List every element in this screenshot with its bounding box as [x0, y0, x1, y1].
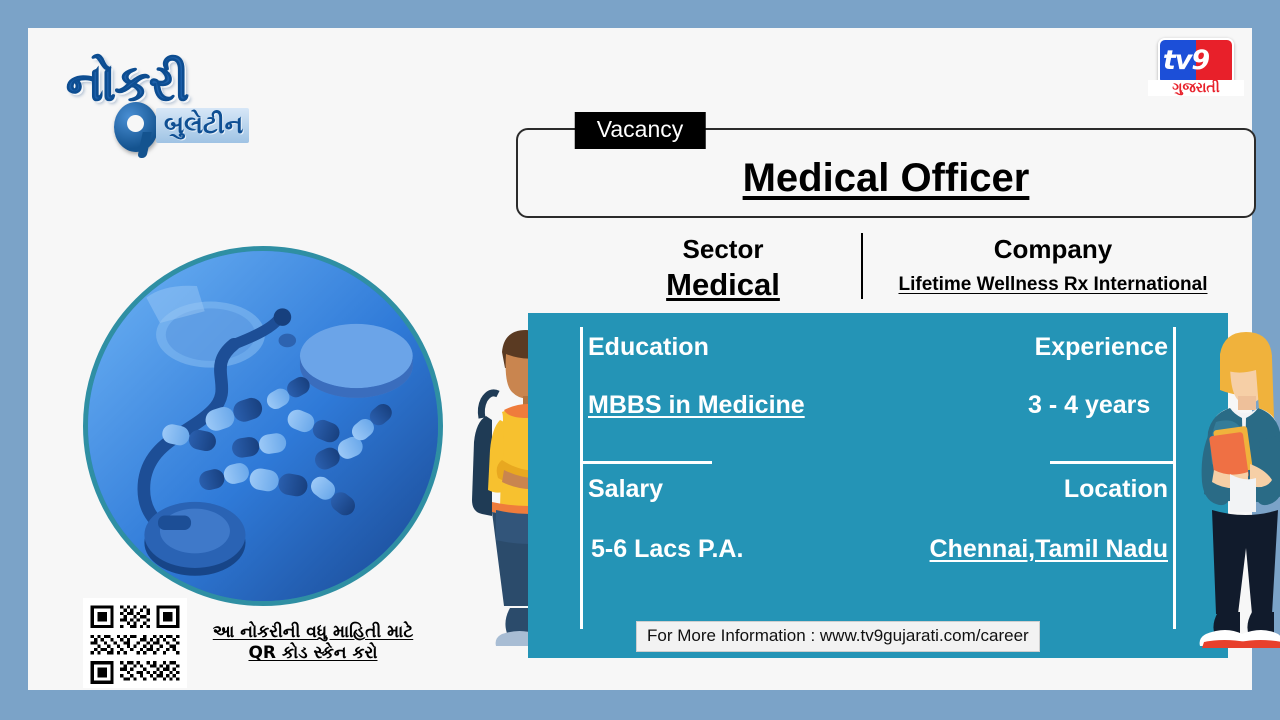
female-student-illustration — [1186, 324, 1280, 664]
sector-value: Medical — [588, 267, 858, 303]
page-title: Medical Officer — [516, 156, 1256, 201]
poster-card: નોકરી બુલેટીન tv9 ગુજરાતી Vacancy Medica… — [28, 28, 1252, 690]
location-label: Location — [873, 475, 1168, 504]
panel-location-rule — [1050, 461, 1176, 464]
location-value: Chennai,Tamil Nadu — [828, 535, 1168, 564]
qr-code[interactable] — [83, 598, 187, 688]
poster-root: નોકરી બુલેટીન tv9 ગુજરાતી Vacancy Medica… — [0, 0, 1280, 720]
tv9-logo-text: tv9 — [1148, 36, 1224, 84]
qr-caption-line2: QR કોડ સ્કેન કરો — [248, 643, 377, 663]
sector-label: Sector — [683, 234, 764, 264]
nokri-bulletin-logo: નોકરી બુલેટીન — [58, 50, 238, 158]
qr-caption-line1: આ નોકરીની વધુ માહિતી માટે — [213, 622, 413, 642]
experience-label: Experience — [873, 333, 1168, 362]
medical-photo — [83, 246, 443, 606]
nokri-logo-nine-icon — [114, 102, 158, 152]
company-label: Company — [994, 234, 1112, 264]
company-column: Company Lifetime Wellness Rx Internation… — [873, 234, 1233, 296]
sector-column: Sector Medical — [588, 234, 858, 303]
tv9-gujarati-logo: tv9 ગુજરાતી — [1148, 36, 1244, 100]
panel-salary-rule — [580, 461, 712, 464]
experience-value: 3 - 4 years — [1028, 391, 1150, 420]
qr-caption: આ નોકરીની વધુ માહિતી માટે QR કોડ સ્કેન ક… — [193, 622, 433, 665]
sector-company-divider — [861, 233, 863, 299]
education-value: MBBS in Medicine — [588, 391, 805, 420]
panel-right-rule — [1173, 327, 1176, 629]
tv9-logo-language-text: ગુજરાતી — [1148, 80, 1244, 96]
company-value: Lifetime Wellness Rx International — [873, 274, 1233, 296]
nokri-logo-sub-text: બુલેટીન — [156, 108, 249, 143]
vacancy-badge: Vacancy — [575, 112, 706, 149]
education-label: Education — [588, 333, 709, 362]
more-information-link[interactable]: For More Information : www.tv9gujarati.c… — [636, 621, 1040, 652]
panel-left-rule — [580, 327, 583, 629]
job-details-panel: Education MBBS in Medicine Experience 3 … — [528, 313, 1228, 658]
salary-label: Salary — [588, 475, 663, 504]
salary-value: 5-6 Lacs P.A. — [591, 535, 743, 564]
